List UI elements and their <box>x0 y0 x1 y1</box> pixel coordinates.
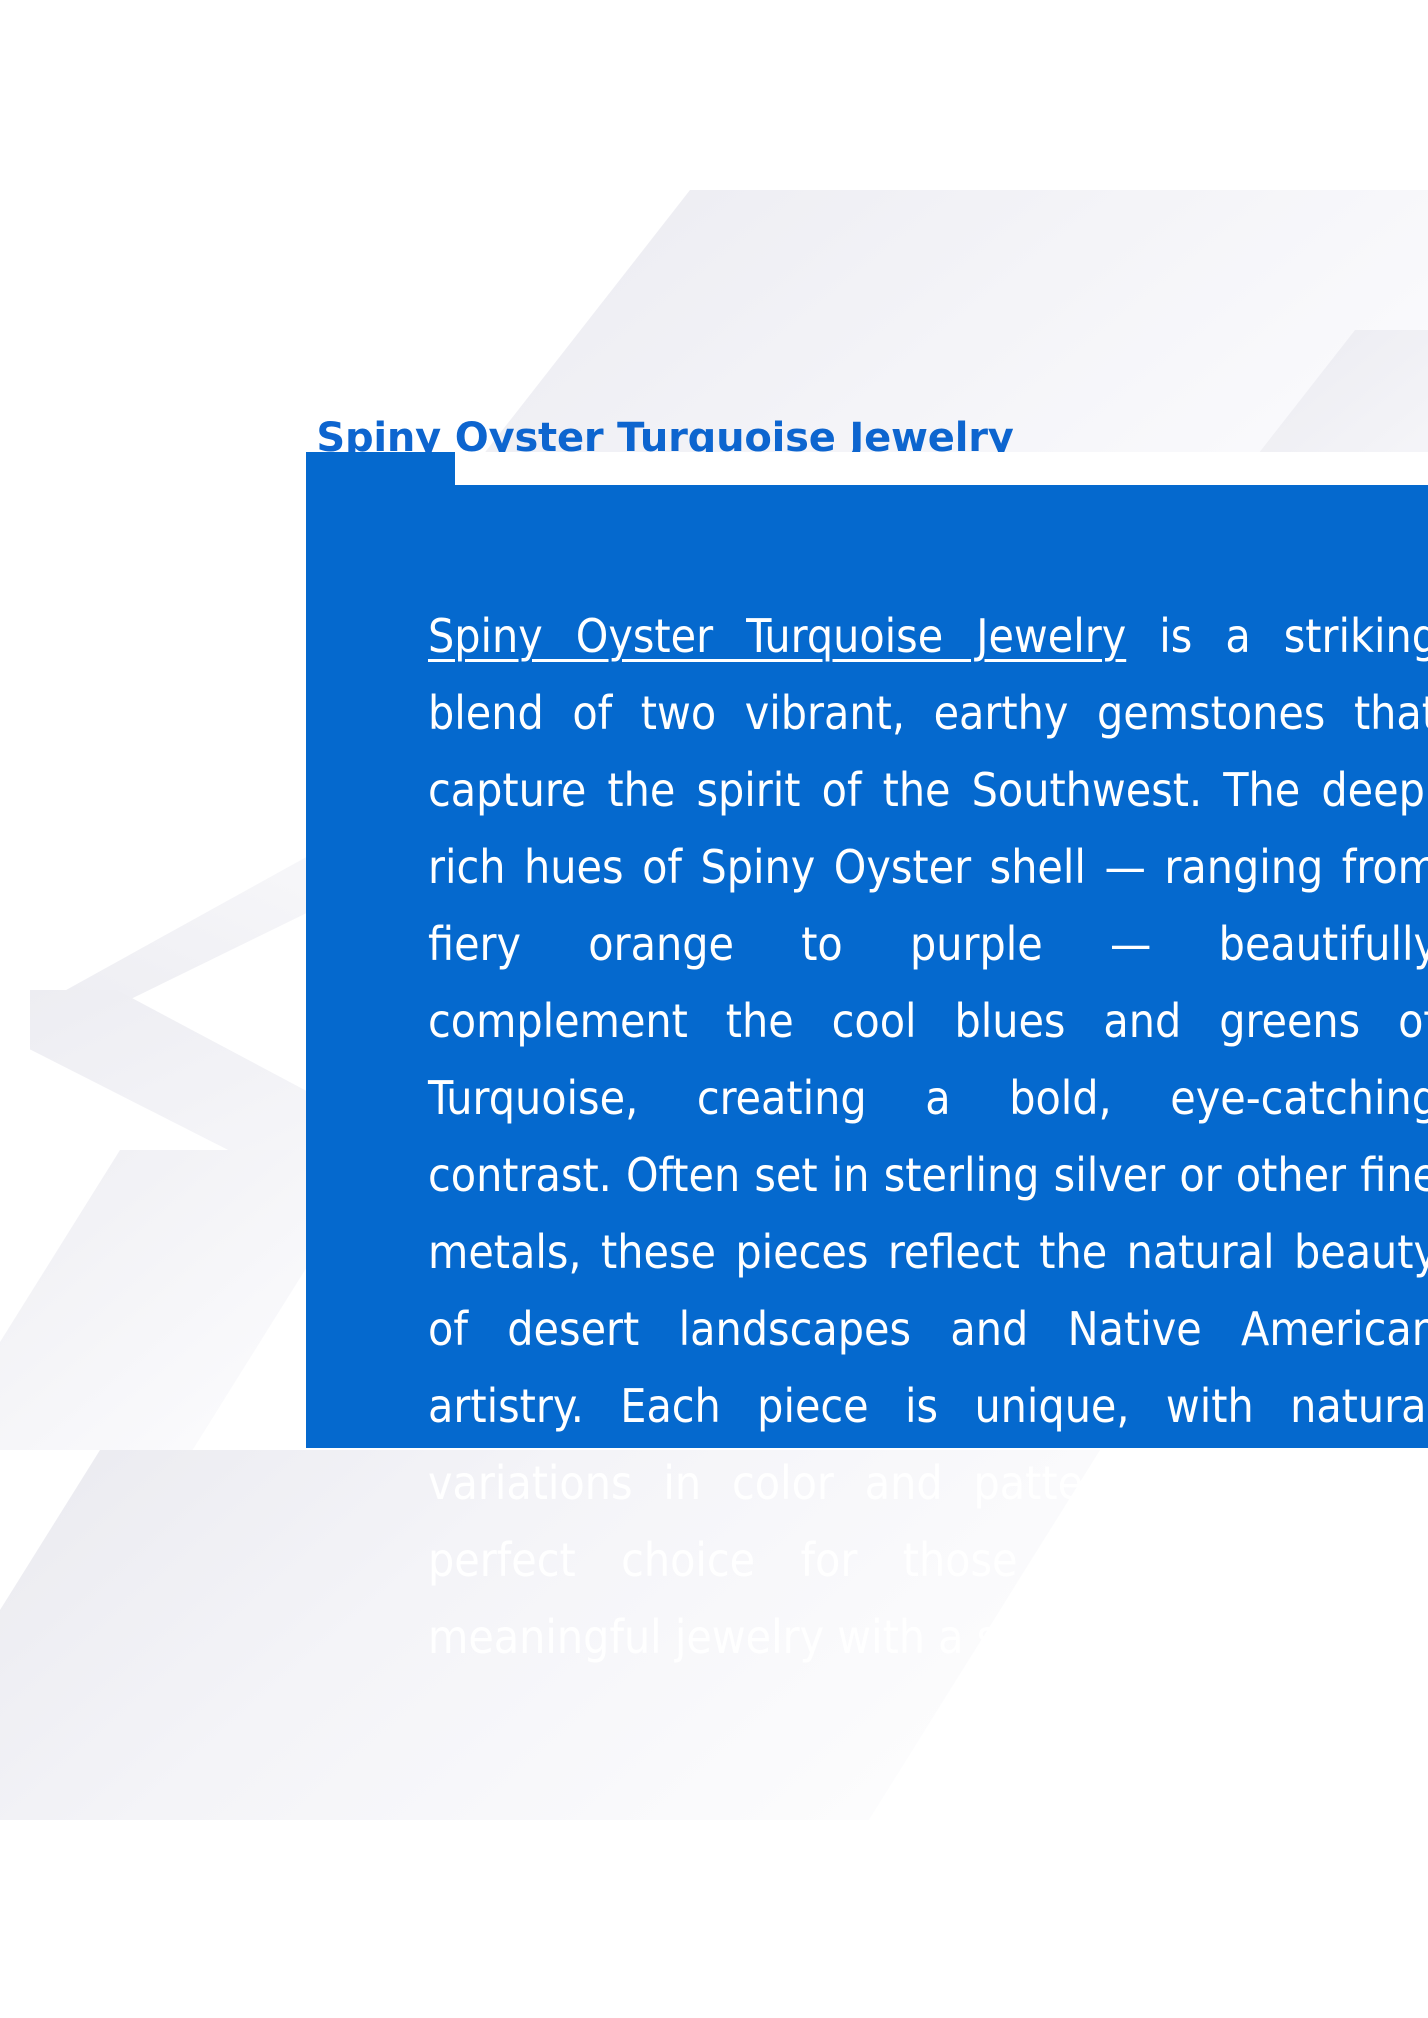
card-body-paragraph: is a striking blend of two vibrant, eart… <box>428 609 1428 1664</box>
card-body-text: Spiny Oyster Turquoise Jewelry is a stri… <box>428 598 1428 1676</box>
content-card-notch <box>455 452 1428 485</box>
page-root: Spiny Oyster Turquoise Jewelry Spiny Oys… <box>0 0 1428 2018</box>
spiny-oyster-turquoise-jewelry-link[interactable]: Spiny Oyster Turquoise Jewelry <box>428 609 1126 663</box>
